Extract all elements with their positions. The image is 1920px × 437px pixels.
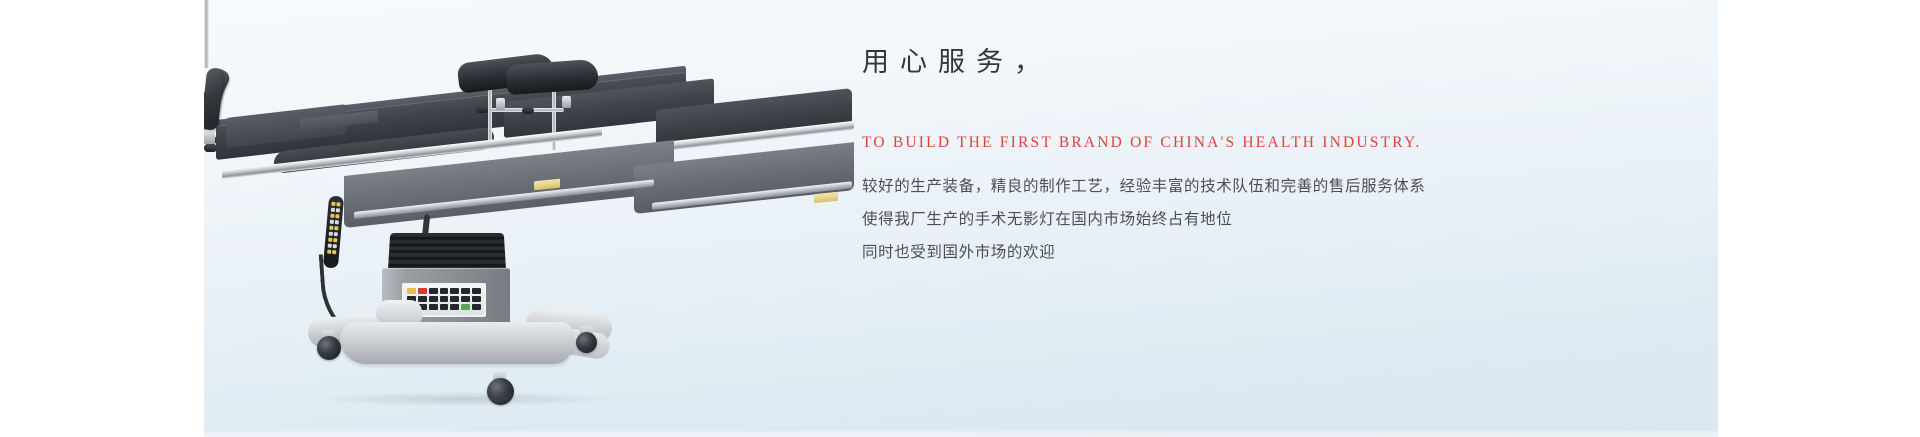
arch-clamp (562, 96, 571, 108)
banner-description-line: 使得我厂生产的手术无影灯在国内市场始终占有地位 (862, 203, 1426, 236)
warning-label (814, 192, 838, 204)
banner-tagline: TO BUILD THE FIRST BRAND OF CHINA'S HEAL… (862, 134, 1421, 152)
banner-copy-block: 用心服务， TO BUILD THE FIRST BRAND OF CHINA'… (862, 46, 1662, 78)
base-column-shroud (376, 300, 422, 322)
pendant-keypad (327, 202, 341, 261)
crossbar-knob (522, 107, 534, 114)
clamp-knob (204, 144, 217, 152)
arch-clamp (496, 98, 505, 110)
hero-banner[interactable]: 用心服务， TO BUILD THE FIRST BRAND OF CHINA'… (204, 0, 1718, 437)
caster-wheel (317, 336, 341, 360)
banner-description-list: 较好的生产装备，精良的制作工艺，经验丰富的技术队伍和完善的售后服务体系 使得我厂… (862, 170, 1426, 269)
floor-shadow (320, 392, 610, 406)
base-platform (340, 322, 572, 364)
banner-description-line: 较好的生产装备，精良的制作工艺，经验丰富的技术队伍和完善的售后服务体系 (862, 170, 1426, 203)
banner-description-line: 同时也受到国外市场的欢迎 (862, 236, 1426, 269)
shoulder-arch-pad (505, 59, 599, 95)
support-post (204, 0, 209, 68)
operating-table-image (204, 0, 864, 437)
rail-clamp (204, 130, 215, 144)
banner-headline: 用心服务， (862, 46, 1662, 78)
caster-wheel (576, 332, 597, 353)
support-post-group-4 (204, 0, 221, 152)
crossbar-knob (476, 106, 488, 113)
page-canvas: 用心服务， TO BUILD THE FIRST BRAND OF CHINA'… (0, 0, 1920, 437)
